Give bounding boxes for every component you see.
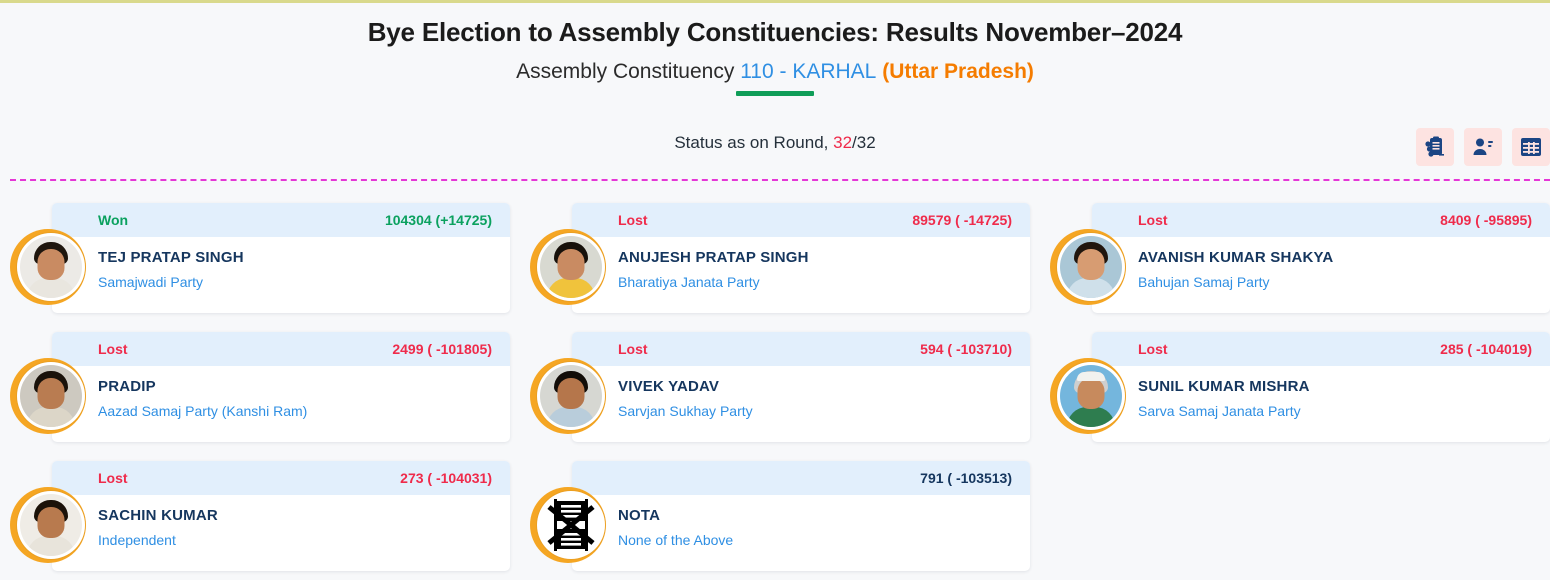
avatar [530, 229, 606, 305]
current-round: 32 [833, 133, 852, 152]
candidate-card-body[interactable]: Lost273 ( -104031)SACHIN KUMARIndependen… [52, 461, 510, 571]
status-badge: Lost [1138, 341, 1168, 357]
avatar [1050, 358, 1126, 434]
candidate-name: SUNIL KUMAR MISHRA [1138, 378, 1532, 396]
avatar-ring [537, 233, 605, 301]
candidate-card[interactable]: Won104304 (+14725)TEJ PRATAP SINGHSamajw… [0, 203, 510, 313]
candidate-card-header: Lost89579 ( -14725) [572, 203, 1030, 237]
candidate-info: ANUJESH PRATAP SINGHBharatiya Janata Par… [572, 237, 1030, 291]
candidate-name: SACHIN KUMAR [98, 507, 492, 525]
candidate-card-body[interactable]: 791 ( -103513)NOTANone of the Above [572, 461, 1030, 571]
page-title: Bye Election to Assembly Constituencies:… [0, 16, 1550, 49]
candidate-photo [1060, 236, 1122, 298]
candidate-card-header: Lost273 ( -104031) [52, 461, 510, 495]
avatar [10, 358, 86, 434]
vote-count: 791 ( -103513) [920, 470, 1012, 486]
constituency-code: 110 - KARHAL [740, 60, 876, 83]
candidate-photo [20, 365, 82, 427]
vote-count: 594 ( -103710) [920, 341, 1012, 357]
candidate-grid: Won104304 (+14725)TEJ PRATAP SINGHSamajw… [0, 203, 1550, 571]
candidate-party: Bahujan Samaj Party [1138, 274, 1532, 291]
status-row: Status as on Round, 32/32 [0, 120, 1550, 166]
candidate-photo [20, 494, 82, 556]
avatar-ring [537, 362, 605, 430]
candidate-card-body[interactable]: Won104304 (+14725)TEJ PRATAP SINGHSamajw… [52, 203, 510, 313]
candidate-card[interactable]: Lost285 ( -104019)SUNIL KUMAR MISHRASarv… [1040, 332, 1550, 442]
status-badge: Lost [618, 212, 648, 228]
candidate-card[interactable]: Lost594 ( -103710)VIVEK YADAVSarvjan Suk… [520, 332, 1030, 442]
candidate-name: NOTA [618, 507, 1012, 525]
state-name: (Uttar Pradesh) [882, 60, 1034, 83]
status-badge: Lost [1138, 212, 1168, 228]
candidate-info: VIVEK YADAVSarvjan Sukhay Party [572, 366, 1030, 420]
candidate-card-header: 791 ( -103513) [572, 461, 1030, 495]
candidate-card-body[interactable]: Lost89579 ( -14725)ANUJESH PRATAP SINGHB… [572, 203, 1030, 313]
vote-count: 104304 (+14725) [385, 212, 492, 228]
candidate-card-header: Lost594 ( -103710) [572, 332, 1030, 366]
candidate-photo [20, 236, 82, 298]
avatar [10, 487, 86, 563]
candidate-info: SUNIL KUMAR MISHRASarva Samaj Janata Par… [1092, 366, 1550, 420]
avatar [10, 229, 86, 305]
candidate-party: Bharatiya Janata Party [618, 274, 1012, 291]
candidate-name: VIVEK YADAV [618, 378, 1012, 396]
candidate-card[interactable]: Lost2499 ( -101805)PRADIPAazad Samaj Par… [0, 332, 510, 442]
candidate-info: AVANISH KUMAR SHAKYABahujan Samaj Party [1092, 237, 1550, 291]
candidate-card[interactable]: 791 ( -103513)NOTANone of the Above [520, 461, 1030, 571]
candidate-party: Independent [98, 532, 492, 549]
candidate-card[interactable]: Lost273 ( -104031)SACHIN KUMARIndependen… [0, 461, 510, 571]
candidate-photo [1060, 365, 1122, 427]
table-grid-icon[interactable] [1512, 128, 1550, 166]
candidate-photo [540, 236, 602, 298]
candidate-party: Sarva Samaj Janata Party [1138, 403, 1532, 420]
results-clipboard-icon[interactable] [1416, 128, 1454, 166]
candidate-card[interactable]: Lost8409 ( -95895)AVANISH KUMAR SHAKYABa… [1040, 203, 1550, 313]
candidate-card[interactable]: Lost89579 ( -14725)ANUJESH PRATAP SINGHB… [520, 203, 1030, 313]
status-badge: Lost [98, 341, 128, 357]
candidate-info: SACHIN KUMARIndependent [52, 495, 510, 549]
results-page: Bye Election to Assembly Constituencies:… [0, 0, 1550, 580]
status-badge: Won [98, 212, 128, 228]
avatar-ring [1057, 362, 1125, 430]
round-status: Status as on Round, 32/32 [0, 120, 1550, 166]
candidate-name: ANUJESH PRATAP SINGH [618, 249, 1012, 267]
round-status-prefix: Status as on Round, [674, 133, 833, 152]
avatar-ring [537, 491, 605, 559]
candidate-card-body[interactable]: Lost2499 ( -101805)PRADIPAazad Samaj Par… [52, 332, 510, 442]
total-rounds: /32 [852, 133, 876, 152]
avatar-ring [1057, 233, 1125, 301]
candidate-card-body[interactable]: Lost8409 ( -95895)AVANISH KUMAR SHAKYABa… [1092, 203, 1550, 313]
view-toolbar [1416, 128, 1550, 166]
avatar [530, 358, 606, 434]
page-header: Bye Election to Assembly Constituencies:… [0, 3, 1550, 96]
status-badge: Lost [618, 341, 648, 357]
title-underline-rule [736, 91, 814, 96]
avatar [1050, 229, 1126, 305]
candidate-name: AVANISH KUMAR SHAKYA [1138, 249, 1532, 267]
candidate-card-header: Lost285 ( -104019) [1092, 332, 1550, 366]
candidate-info: TEJ PRATAP SINGHSamajwadi Party [52, 237, 510, 291]
candidate-party: Aazad Samaj Party (Kanshi Ram) [98, 403, 492, 420]
candidate-info: PRADIPAazad Samaj Party (Kanshi Ram) [52, 366, 510, 420]
status-badge: Lost [98, 470, 128, 486]
vote-count: 285 ( -104019) [1440, 341, 1532, 357]
candidate-card-header: Lost2499 ( -101805) [52, 332, 510, 366]
constituency-subtitle: Assembly Constituency 110 - KARHAL (Utta… [0, 59, 1550, 84]
vote-count: 89579 ( -14725) [912, 212, 1012, 228]
candidate-card-header: Won104304 (+14725) [52, 203, 510, 237]
candidate-card-header: Lost8409 ( -95895) [1092, 203, 1550, 237]
candidate-name: TEJ PRATAP SINGH [98, 249, 492, 267]
vote-count: 2499 ( -101805) [392, 341, 492, 357]
vote-count: 8409 ( -95895) [1440, 212, 1532, 228]
avatar [530, 487, 606, 563]
avatar-ring [17, 233, 85, 301]
candidate-party: None of the Above [618, 532, 1012, 549]
candidate-photo [540, 365, 602, 427]
nota-ballot-icon [541, 495, 601, 555]
candidate-person-icon[interactable] [1464, 128, 1502, 166]
candidate-party: Sarvjan Sukhay Party [618, 403, 1012, 420]
candidate-card-body[interactable]: Lost594 ( -103710)VIVEK YADAVSarvjan Suk… [572, 332, 1030, 442]
section-divider [10, 179, 1550, 181]
candidate-card-body[interactable]: Lost285 ( -104019)SUNIL KUMAR MISHRASarv… [1092, 332, 1550, 442]
subtitle-prefix: Assembly Constituency [516, 60, 740, 83]
avatar-ring [17, 362, 85, 430]
avatar-ring [17, 491, 85, 559]
candidate-name: PRADIP [98, 378, 492, 396]
vote-count: 273 ( -104031) [400, 470, 492, 486]
candidate-info: NOTANone of the Above [572, 495, 1030, 549]
candidate-party: Samajwadi Party [98, 274, 492, 291]
